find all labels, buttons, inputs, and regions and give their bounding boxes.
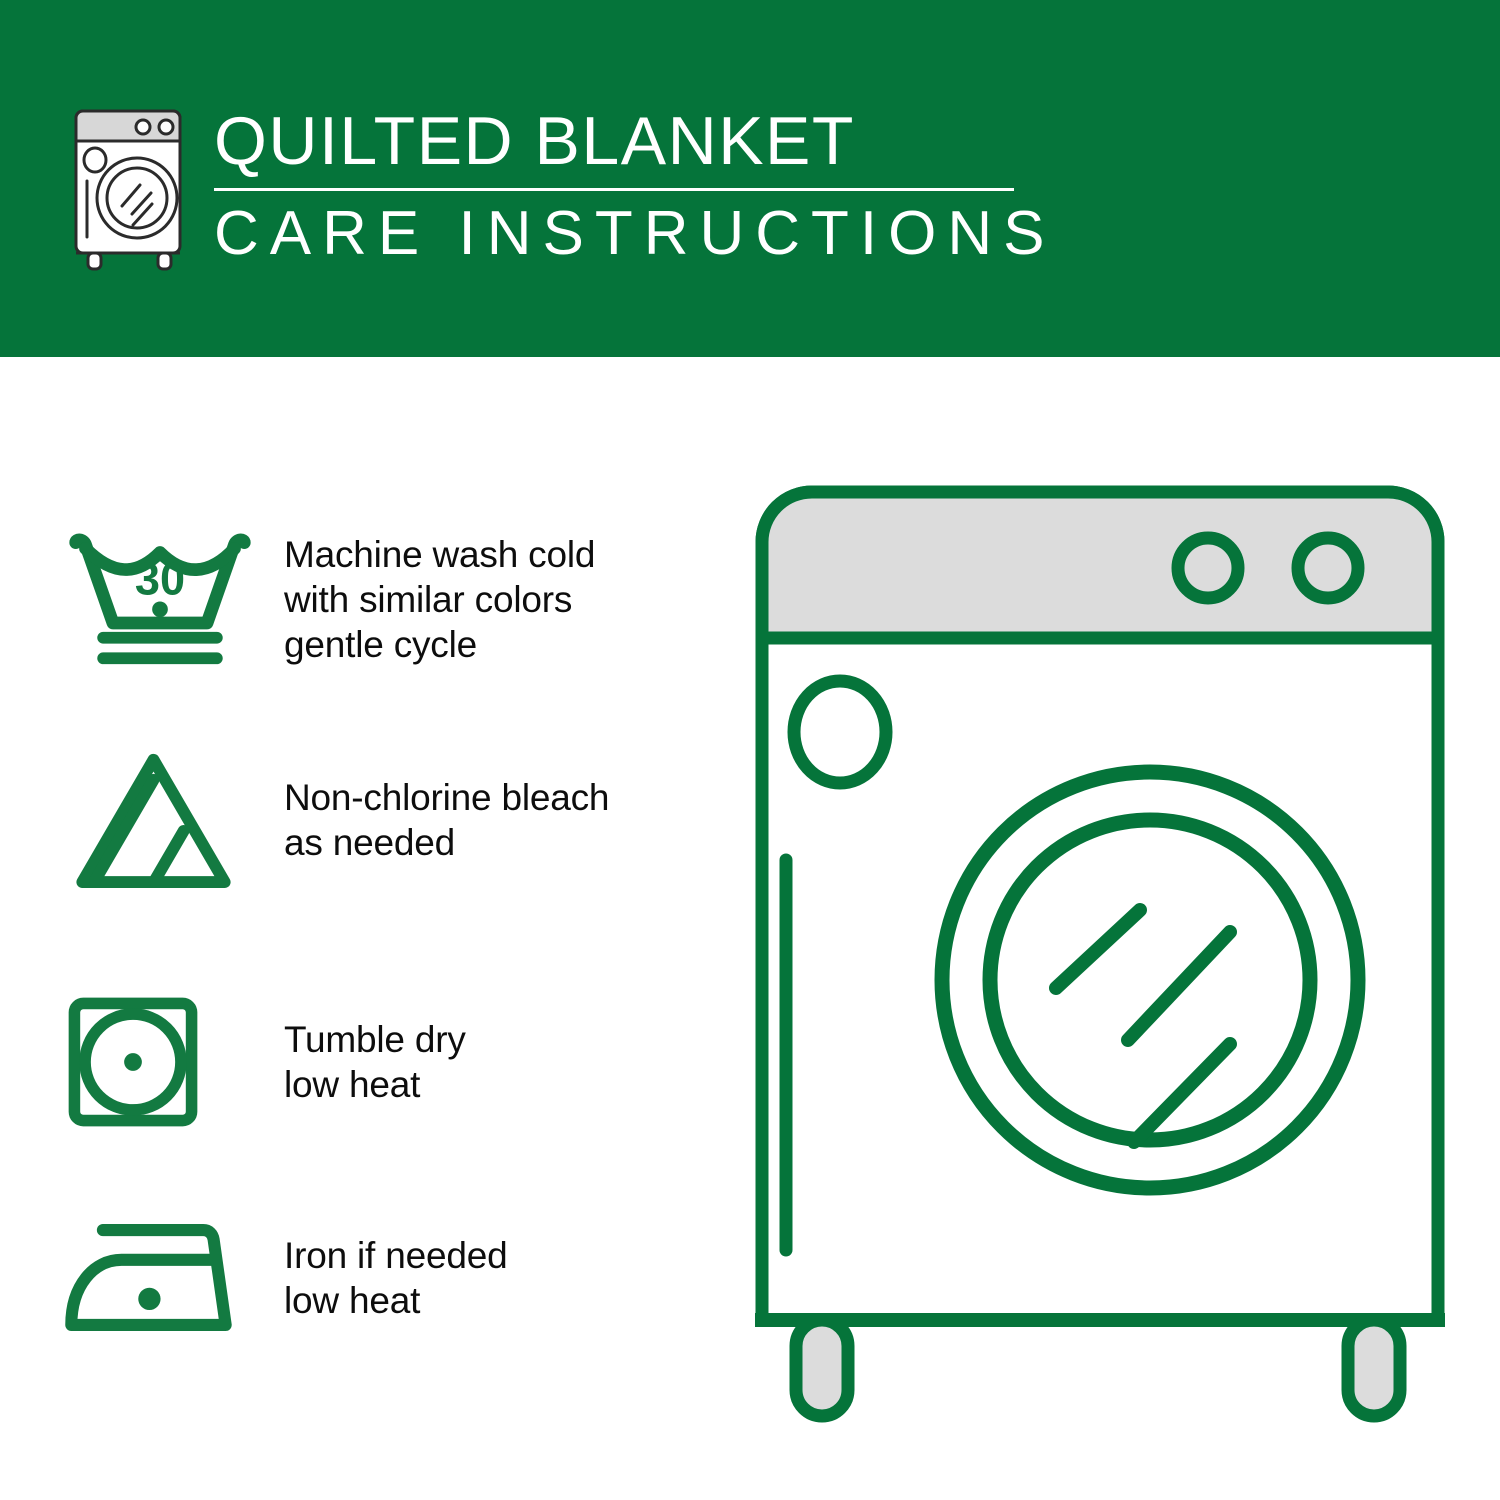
care-row-bleach: Non-chlorine bleach as needed [0, 732, 740, 907]
title-divider [214, 188, 1014, 191]
care-text-wash-line2: with similar colors [284, 577, 595, 622]
care-text-wash-line3: gentle cycle [284, 622, 595, 667]
care-row-tumble-dry: Tumble dry low heat [0, 974, 740, 1149]
wash-tub-30-gentle-icon: 30 [62, 512, 262, 687]
care-text-iron: Iron if needed low heat [284, 1233, 507, 1323]
washing-machine-icon [62, 103, 202, 271]
care-row-wash: 30 Machine wash cold with similar colors… [0, 512, 740, 687]
care-text-tumble-dry: Tumble dry low heat [284, 1017, 466, 1107]
wash-temperature-label: 30 [135, 554, 185, 605]
care-text-bleach: Non-chlorine bleach as needed [284, 775, 609, 865]
header-band: QUILTED BLANKET CARE INSTRUCTIONS [0, 0, 1500, 357]
care-text-bleach-line2: as needed [284, 820, 609, 865]
care-text-iron-line2: low heat [284, 1278, 507, 1323]
non-chlorine-bleach-triangle-icon [62, 732, 262, 907]
care-text-tumble-dry-line2: low heat [284, 1062, 466, 1107]
front-load-washing-machine-illustration [740, 470, 1500, 1430]
care-text-tumble-dry-line1: Tumble dry [284, 1017, 466, 1062]
care-instruction-list: 30 Machine wash cold with similar colors… [0, 357, 740, 1500]
iron-low-heat-icon [62, 1190, 262, 1365]
care-instructions-poster: QUILTED BLANKET CARE INSTRUCTIONS 30 [0, 0, 1500, 1500]
care-text-iron-line1: Iron if needed [284, 1233, 507, 1278]
washer-leg-left [796, 1320, 848, 1416]
tumble-dry-low-heat-icon [62, 974, 262, 1149]
care-text-wash-line1: Machine wash cold [284, 532, 595, 577]
page-subtitle: CARE INSTRUCTIONS [214, 197, 1214, 271]
care-row-iron: Iron if needed low heat [0, 1190, 740, 1365]
washer-leg-right [1348, 1320, 1400, 1416]
page-title: QUILTED BLANKET [214, 100, 1214, 182]
care-text-bleach-line1: Non-chlorine bleach [284, 775, 609, 820]
header-title-block: QUILTED BLANKET CARE INSTRUCTIONS [214, 100, 1214, 271]
care-text-wash: Machine wash cold with similar colors ge… [284, 532, 595, 667]
